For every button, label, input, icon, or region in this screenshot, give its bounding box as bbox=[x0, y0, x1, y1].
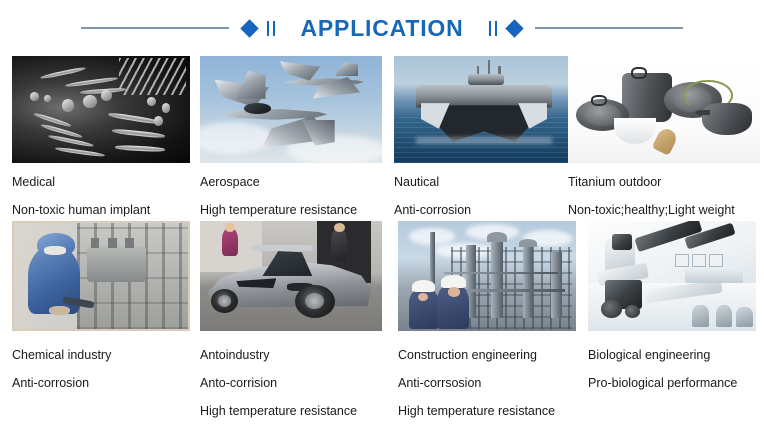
refinery-construction-photo[interactable] bbox=[398, 221, 576, 331]
page-title: APPLICATION bbox=[301, 15, 464, 42]
application-row-2: Chemical industry Anti-corrosion bbox=[0, 221, 764, 443]
titanium-cookware-photo[interactable] bbox=[568, 56, 760, 163]
caption-line: Aerospace bbox=[200, 174, 357, 191]
caption-line: Chemical industry bbox=[12, 347, 111, 364]
header-rule-left bbox=[81, 27, 229, 29]
header-rule-right bbox=[535, 27, 683, 29]
medical-instruments-photo[interactable] bbox=[12, 56, 190, 163]
caption-line: Anti-corrsosion bbox=[398, 375, 555, 392]
caption-line: Construction engineering bbox=[398, 347, 555, 364]
caption-biological-engineering: Biological engineering Pro-biological pe… bbox=[588, 347, 737, 403]
caption-line: Nautical bbox=[394, 174, 471, 191]
caption-chemical-industry: Chemical industry Anti-corrosion bbox=[12, 347, 111, 403]
caption-line: High temperature resistance bbox=[398, 403, 555, 420]
caption-line: Anti-corrosion bbox=[12, 375, 111, 392]
caption-line: High temperature resistance bbox=[200, 403, 357, 420]
caption-line: Antoindustry bbox=[200, 347, 357, 364]
chemical-plant-worker-photo[interactable] bbox=[12, 221, 190, 331]
caption-line: Anti-corrosion bbox=[394, 202, 471, 219]
caption-auto-industry: Antoindustry Anto-corrision High tempera… bbox=[200, 347, 357, 431]
application-row-1: Medical Non-toxic human implant bbox=[0, 56, 764, 221]
caption-line: Non-toxic;healthy;Light weight bbox=[568, 202, 735, 219]
laboratory-microscopes-photo[interactable] bbox=[588, 221, 756, 331]
caption-line: High temperature resistance bbox=[200, 202, 357, 219]
catamaran-ship-photo[interactable] bbox=[394, 56, 574, 163]
caption-line: Titanium outdoor bbox=[568, 174, 735, 191]
caption-line: Non-toxic human implant bbox=[12, 202, 150, 219]
fighter-jets-photo[interactable] bbox=[200, 56, 382, 163]
caption-line: Biological engineering bbox=[588, 347, 737, 364]
section-header: APPLICATION bbox=[0, 0, 764, 56]
silver-sports-car-photo[interactable] bbox=[200, 221, 382, 331]
application-grid: Medical Non-toxic human implant bbox=[0, 56, 764, 443]
double-bar-icon-right bbox=[489, 21, 497, 36]
diamond-icon-left bbox=[240, 19, 258, 37]
double-bar-icon-left bbox=[267, 21, 275, 36]
caption-construction-engineering: Construction engineering Anti-corrsosion… bbox=[398, 347, 555, 431]
diamond-icon-right bbox=[506, 19, 524, 37]
caption-line: Medical bbox=[12, 174, 150, 191]
caption-line: Anto-corrision bbox=[200, 375, 357, 392]
caption-line: Pro-biological performance bbox=[588, 375, 737, 392]
